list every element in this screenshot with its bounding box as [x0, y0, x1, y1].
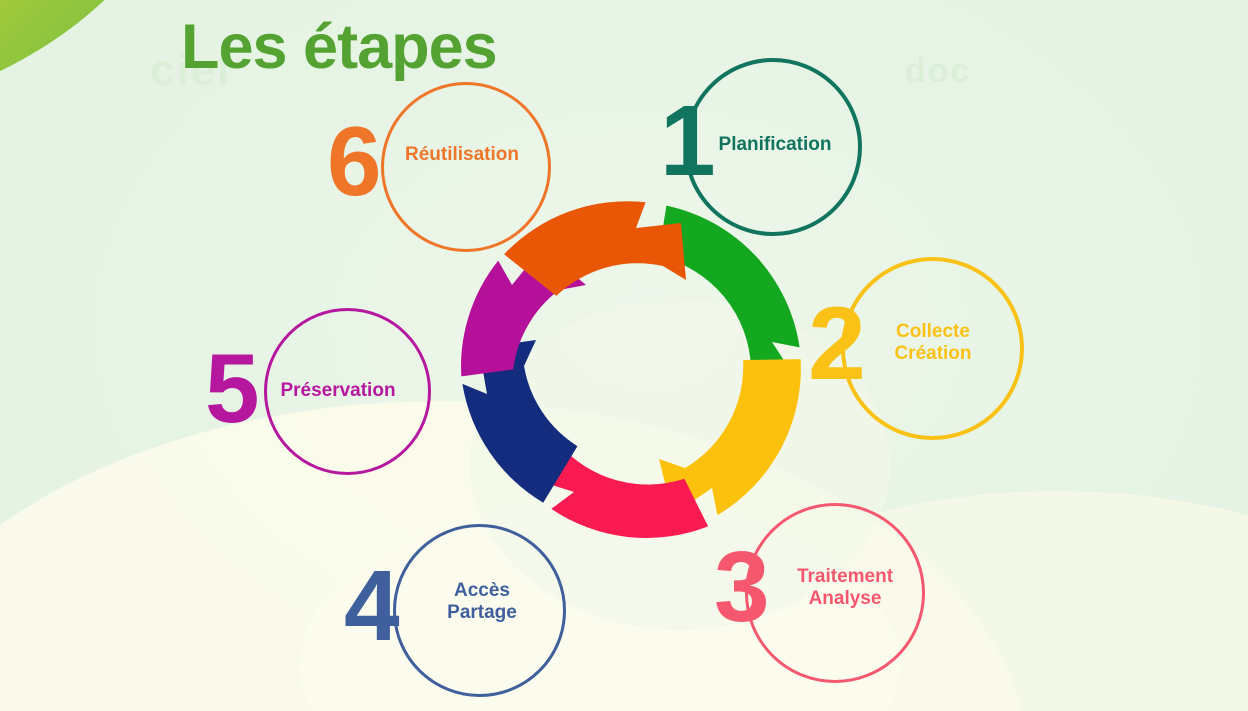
slide-canvas: ciel doc Les étapes 1 [0, 0, 1248, 711]
step-2-label: Collecte Création [858, 321, 1008, 366]
page-title: Les étapes [181, 14, 497, 80]
step-6-circle [381, 82, 551, 252]
step-5-number: 5 [205, 339, 260, 437]
step-3-label: Traitement Analyse [770, 566, 920, 611]
step-5-label: Préservation [258, 380, 418, 402]
step-6-number: 6 [327, 112, 382, 210]
step-node-traitement-analyse[interactable]: 3 Traitement Analyse [714, 503, 924, 685]
step-6-label: Réutilisation [382, 144, 542, 166]
step-4-label: Accès Partage [407, 580, 557, 625]
step-node-planification[interactable]: 1 Planification [658, 58, 868, 238]
step-3-number: 3 [714, 537, 770, 637]
step-4-number: 4 [344, 556, 400, 656]
step-1-label: Planification [702, 134, 848, 156]
watermark-right-text: doc [905, 52, 971, 91]
step-node-collecte-creation[interactable]: 2 Collecte Création [808, 257, 1024, 442]
step-node-reutilisation[interactable]: 6 Réutilisation [327, 82, 547, 258]
step-node-preservation[interactable]: 5 Préservation [205, 308, 431, 478]
step-node-acces-partage[interactable]: 4 Accès Partage [344, 524, 566, 700]
